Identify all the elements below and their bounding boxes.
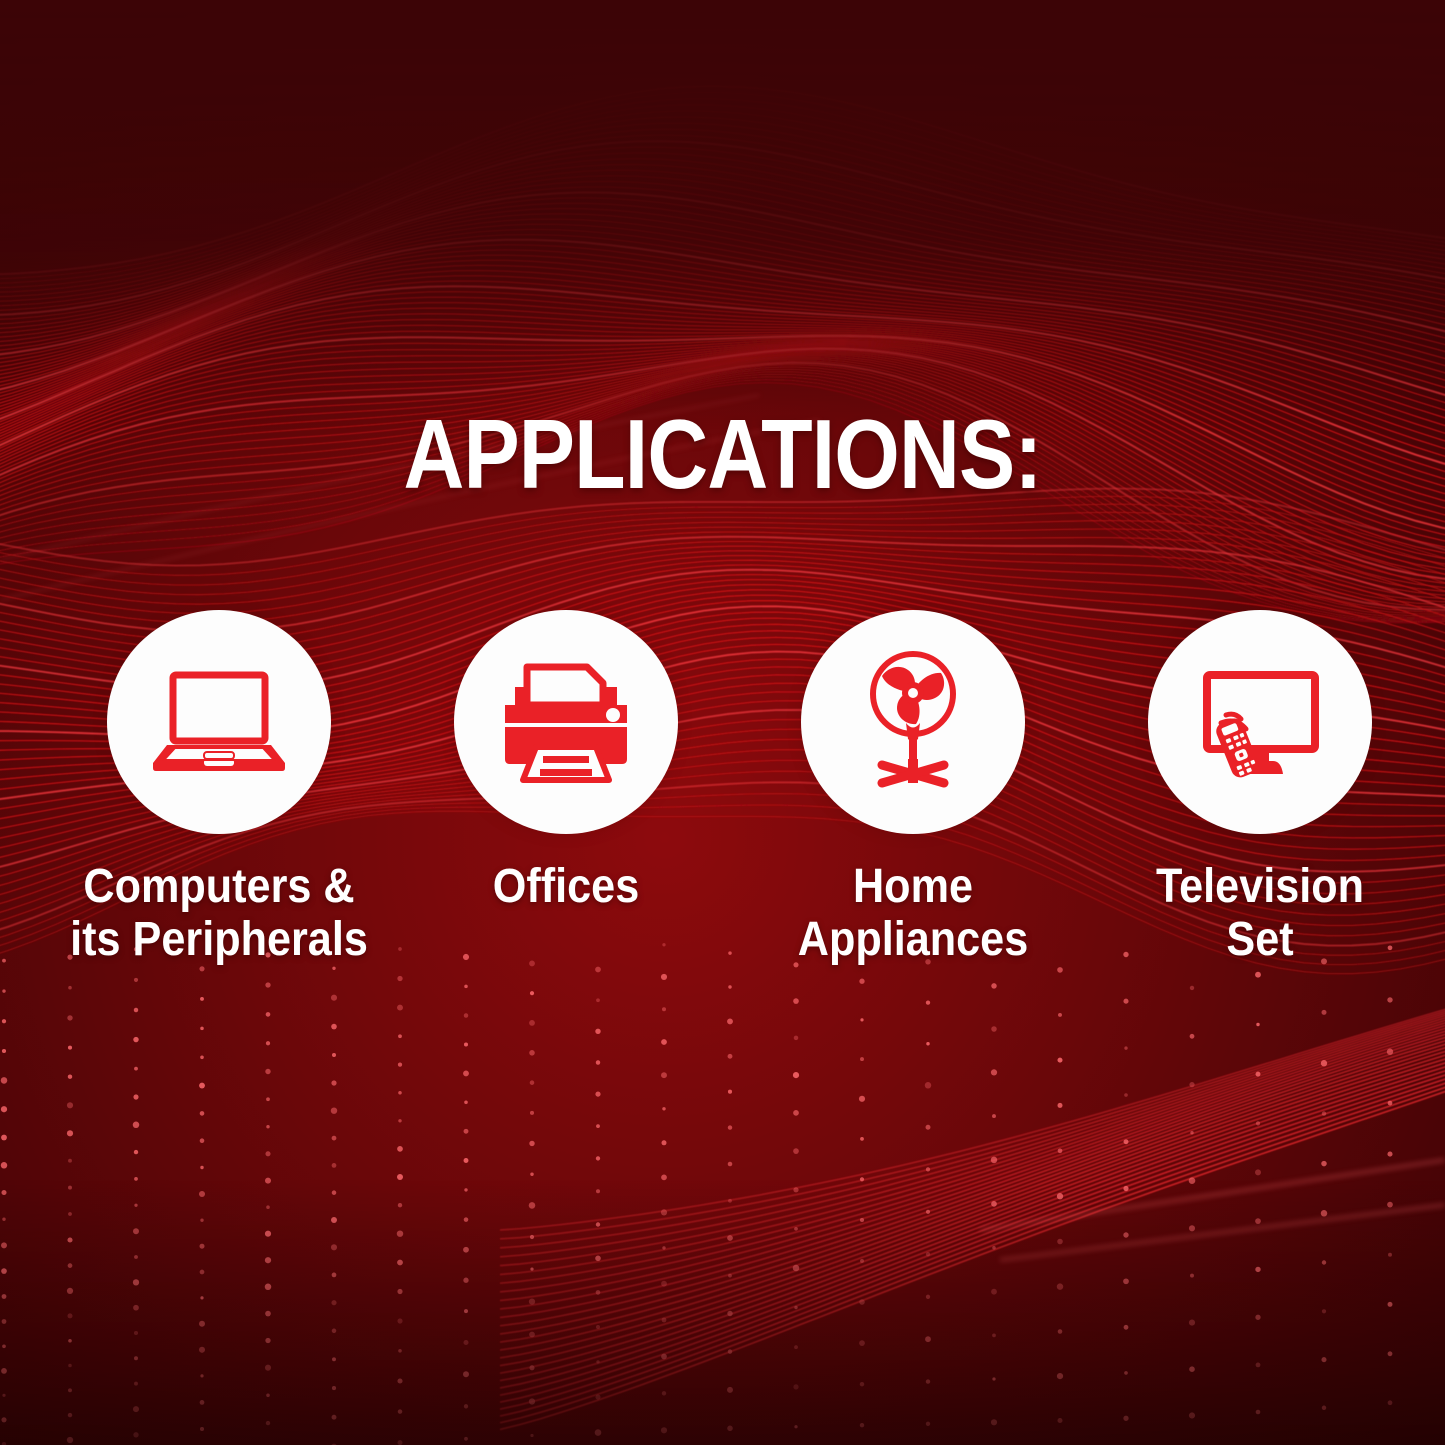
icon-circle (801, 610, 1025, 834)
icon-circle (454, 610, 678, 834)
applications-list: Computers & its Peripherals (0, 610, 1445, 1040)
application-label: Offices (413, 860, 719, 913)
application-label: Home Appliances (760, 860, 1066, 966)
icon-circle (1148, 610, 1372, 834)
pedestal-fan-icon (838, 647, 988, 797)
application-item-computers[interactable]: Computers & its Peripherals (49, 610, 389, 966)
application-label: Computers & its Peripherals (66, 860, 372, 966)
printer-icon (491, 647, 641, 797)
television-remote-icon (1185, 647, 1335, 797)
icon-circle (107, 610, 331, 834)
page-title: APPLICATIONS: (101, 404, 1344, 504)
application-item-home-appliances[interactable]: Home Appliances (743, 610, 1083, 966)
application-item-offices[interactable]: Offices (396, 610, 736, 913)
laptop-icon (144, 647, 294, 797)
applications-banner: APPLICATIONS: Computers & it (0, 0, 1445, 1445)
application-item-television[interactable]: Television Set (1090, 610, 1430, 966)
application-label: Television Set (1107, 860, 1413, 966)
